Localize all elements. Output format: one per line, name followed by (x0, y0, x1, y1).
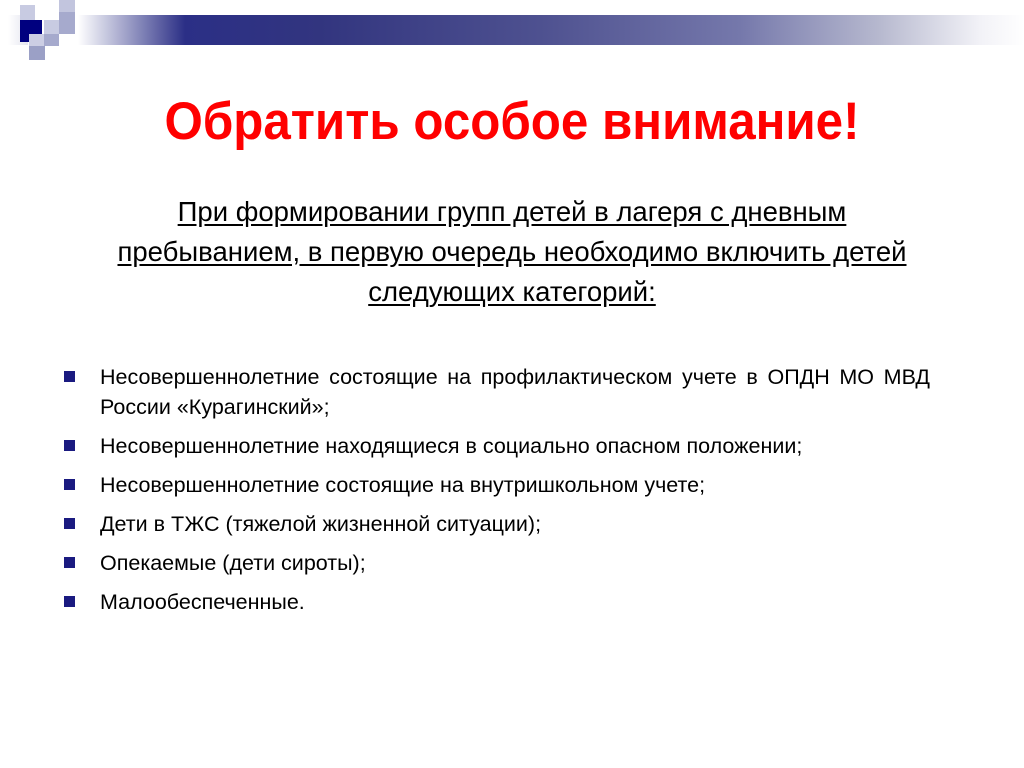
page-title: Обратить особое внимание! (36, 92, 988, 152)
list-item: Опекаемые (дети сироты); (62, 548, 930, 578)
square-bullet-icon (64, 518, 75, 529)
list-item-label: Дети в ТЖС (тяжелой жизненной ситуации); (100, 509, 930, 539)
list-item-label: Несовершеннолетние состоящие на внутришк… (100, 470, 930, 500)
bullet-list: Несовершеннолетние состоящие на профилак… (62, 362, 930, 626)
list-item-label: Несовершеннолетние находящиеся в социаль… (100, 431, 930, 461)
header-decoration (0, 0, 1024, 70)
header-square-mid-medium (59, 12, 75, 34)
header-square-top-left (20, 5, 35, 20)
header-square-mid-light (44, 20, 59, 34)
list-item-label: Несовершеннолетние состоящие на профилак… (100, 362, 930, 422)
square-bullet-icon (64, 557, 75, 568)
list-item-label: Опекаемые (дети сироты); (100, 548, 930, 578)
header-gradient-bar (20, 15, 1024, 45)
header-square-lower-medium (44, 34, 59, 46)
slide-subtitle: При формировании групп детей в лагеря с … (96, 192, 928, 312)
list-item: Несовершеннолетние состоящие на профилак… (62, 362, 930, 422)
square-bullet-icon (64, 440, 75, 451)
header-square-lower-light (29, 34, 44, 46)
square-bullet-icon (64, 371, 75, 382)
list-item: Несовершеннолетние находящиеся в социаль… (62, 431, 930, 461)
square-bullet-icon (64, 596, 75, 607)
list-item: Малообеспеченные. (62, 587, 930, 617)
square-bullet-icon (64, 479, 75, 490)
header-square-top-right (59, 0, 75, 12)
list-item-label: Малообеспеченные. (100, 587, 930, 617)
header-square-bottom (29, 46, 45, 60)
list-item: Несовершеннолетние состоящие на внутришк… (62, 470, 930, 500)
list-item: Дети в ТЖС (тяжелой жизненной ситуации); (62, 509, 930, 539)
